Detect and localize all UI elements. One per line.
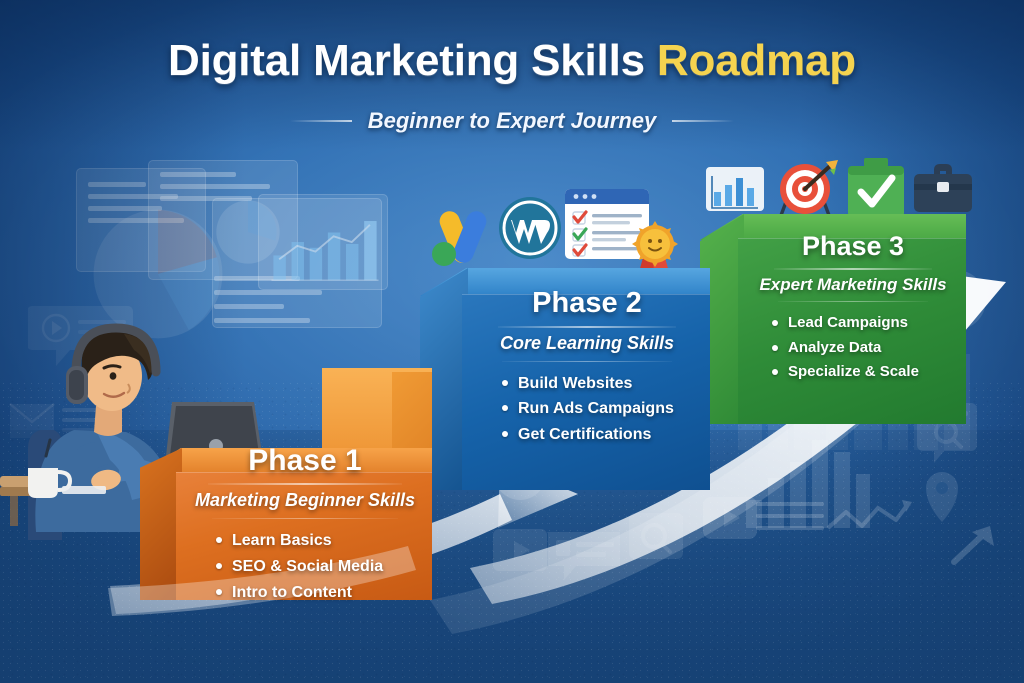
wordpress-icon [498,196,562,260]
phase-2-content: Phase 2 Core Learning Skills Build Websi… [464,288,710,448]
growth-arrow-small-icon [950,522,996,568]
subtitle-block: Beginner to Expert Journey [0,108,1024,134]
infographic-canvas: Phase 3 Expert Marketing Skills Lead Cam… [0,0,1024,683]
page-subtitle: Beginner to Expert Journey [368,108,657,134]
phase-3[interactable]: Phase 3 Expert Marketing Skills Lead Cam… [700,214,966,424]
list-item: Build Websites [502,371,696,397]
subtitle-rule-right [672,120,734,122]
phase-1[interactable]: Phase 1 Marketing Beginner Skills Learn … [140,368,432,600]
briefcase-icon [912,162,974,216]
phase-1-subtitle: Marketing Beginner Skills [192,490,418,511]
location-pin-icon [922,470,962,524]
green-check-box-icon [844,156,908,220]
list-item: Analyze Data [772,336,952,360]
phase-1-content: Phase 1 Marketing Beginner Skills Learn … [178,444,432,605]
list-item: Lead Campaigns [772,311,952,335]
phase-2-subtitle: Core Learning Skills [478,333,696,354]
page-title: Digital Marketing Skills Roadmap [0,38,1024,84]
phase-2[interactable]: Phase 2 Core Learning Skills Build Websi… [420,268,710,490]
phase-1-title: Phase 1 [192,444,418,477]
list-item: SEO & Social Media [216,554,418,580]
list-item: Intro to Content [216,580,418,606]
search-bubble-icon [628,512,684,568]
subtitle-rule-left [290,120,352,122]
phase-3-icons [700,152,970,220]
title-block: Digital Marketing Skills Roadmap [0,38,1024,84]
bar-chart-icon [705,166,765,214]
list-item: Run Ads Campaigns [502,396,696,422]
phase-3-title: Phase 3 [754,232,952,262]
phase-1-rule2 [212,518,397,519]
list-item: Specialize & Scale [772,360,952,384]
google-ads-icon [426,206,492,270]
list-item: Learn Basics [216,528,418,554]
phase-2-bullet-list: Build Websites Run Ads Campaigns Get Cer… [478,371,696,449]
phase-1-rule [208,483,402,485]
phase-3-content: Phase 3 Expert Marketing Skills Lead Cam… [740,232,966,384]
phase-2-rule [498,326,677,328]
target-arrow-icon [768,156,842,222]
phase-3-rule2 [778,301,928,302]
phase-1-bullet-list: Learn Basics SEO & Social Media Intro to… [192,528,418,606]
award-ribbon-icon [630,220,680,274]
phase-2-icons [424,186,664,272]
line-graph-icon [756,498,912,542]
phase-3-bullet-list: Lead Campaigns Analyze Data Specialize &… [754,311,952,384]
phase-2-title: Phase 2 [478,288,696,320]
title-main: Digital Marketing Skills [168,36,657,85]
phase-3-subtitle: Expert Marketing Skills [754,275,952,295]
phase-3-rule [774,268,932,270]
chat-bubble-icon [546,530,622,584]
title-accent: Roadmap [657,36,856,85]
phase-2-rule2 [502,361,672,362]
list-item: Get Certifications [502,422,696,448]
play-button-icon [492,528,548,572]
